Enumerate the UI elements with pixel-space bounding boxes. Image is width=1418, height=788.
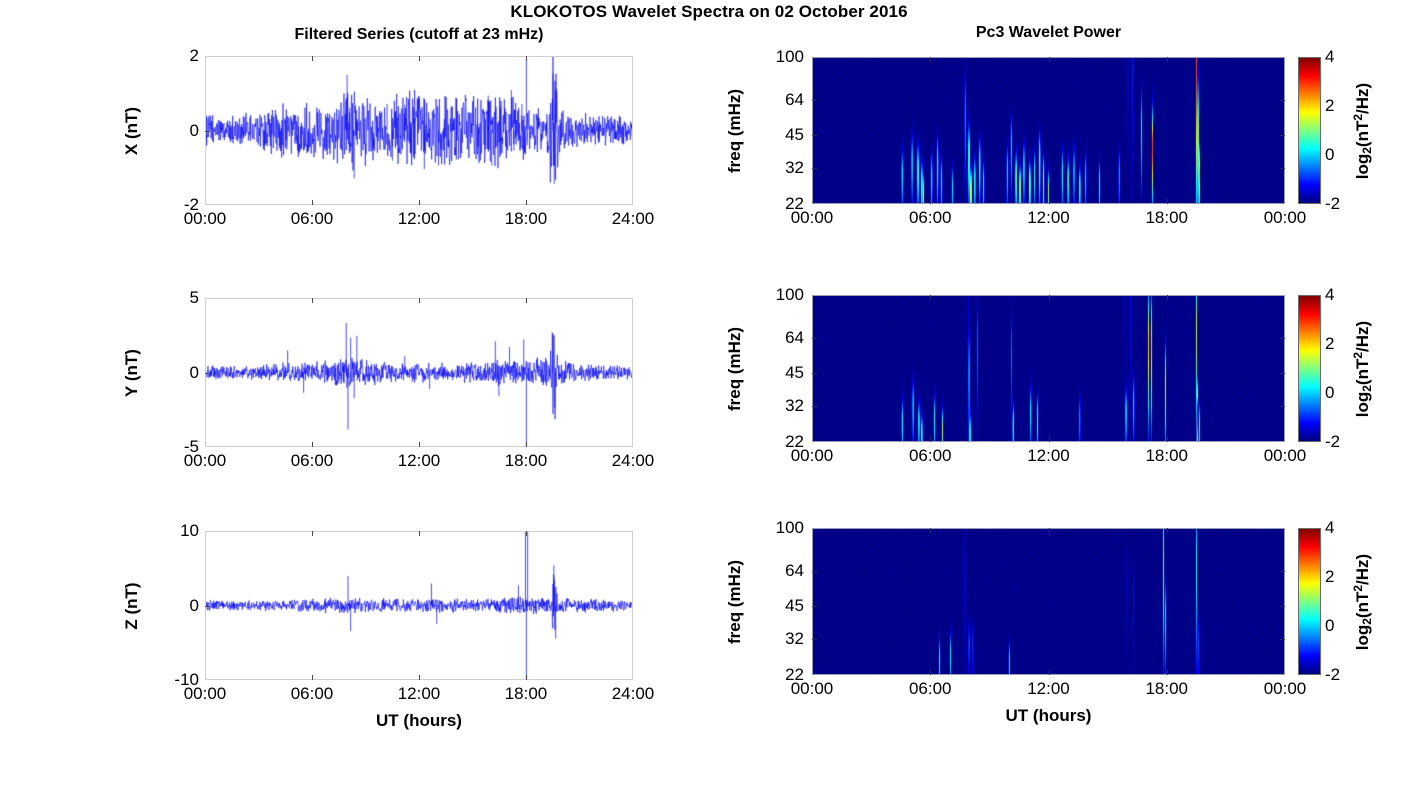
timeseries-trace-y [206, 299, 632, 446]
timeseries-ytick-x-1: 0 [133, 122, 199, 139]
xlabel-right: UT (hours) [812, 706, 1285, 726]
left-column-title: Filtered Series (cutoff at 23 mHz) [205, 26, 633, 44]
timeseries-ytick-z-0: 10 [133, 522, 199, 539]
colorbar-gradient-z [1299, 529, 1320, 674]
colorbar-x [1298, 57, 1321, 204]
colorbar-label-x: log2(nT2/Hz) [1353, 56, 1377, 206]
colorbar-tick-z-2: 0 [1325, 617, 1334, 634]
spectrogram-xtick-z-4: 00:00 [1235, 680, 1335, 697]
xlabel-left: UT (hours) [205, 711, 633, 731]
spectrogram-ftick-x-0: 100 [736, 48, 804, 65]
spectrogram-xtick-z-0: 00:00 [762, 680, 862, 697]
spectrogram-axes-z [812, 528, 1285, 675]
figure-title: KLOKOTOS Wavelet Spectra on 02 October 2… [0, 2, 1418, 22]
spectrogram-xtick-x-4: 00:00 [1235, 209, 1335, 226]
colorbar-tick-x-1: 2 [1325, 97, 1334, 114]
colorbar-tick-y-1: 2 [1325, 335, 1334, 352]
spectrogram-ftick-y-2: 45 [736, 364, 804, 381]
timeseries-axes-y [205, 298, 633, 447]
timeseries-xtick-z-1: 06:00 [262, 685, 362, 702]
timeseries-ytick-y-0: 5 [133, 289, 199, 306]
spectrogram-ftick-x-3: 32 [736, 159, 804, 176]
timeseries-axes-x [205, 56, 633, 205]
timeseries-xtick-z-3: 18:00 [476, 685, 576, 702]
spectrogram-xtick-z-1: 06:00 [880, 680, 980, 697]
timeseries-xtick-z-0: 00:00 [155, 685, 255, 702]
spectrogram-xtick-x-3: 18:00 [1117, 209, 1217, 226]
timeseries-xtick-y-4: 24:00 [583, 452, 683, 469]
colorbar-tick-y-3: -2 [1325, 433, 1340, 450]
colorbar-tick-x-2: 0 [1325, 146, 1334, 163]
spectrogram-axes-y [812, 295, 1285, 442]
colorbar-tick-z-3: -2 [1325, 666, 1340, 683]
spectrogram-ftick-z-0: 100 [736, 519, 804, 536]
spectrogram-xtick-y-2: 12:00 [999, 447, 1099, 464]
spectrogram-ftick-y-3: 32 [736, 397, 804, 414]
spectrogram-ftick-z-1: 64 [736, 562, 804, 579]
spectrogram-xtick-y-4: 00:00 [1235, 447, 1335, 464]
timeseries-xtick-z-4: 24:00 [583, 685, 683, 702]
timeseries-xtick-z-2: 12:00 [369, 685, 469, 702]
timeseries-xtick-x-4: 24:00 [583, 210, 683, 227]
colorbar-z [1298, 528, 1321, 675]
timeseries-xtick-x-2: 12:00 [369, 210, 469, 227]
spectrogram-xtick-y-0: 00:00 [762, 447, 862, 464]
spectrogram-image-z [813, 529, 1284, 674]
right-column-title: Pc3 Wavelet Power [812, 24, 1285, 42]
spectrogram-ftick-y-0: 100 [736, 286, 804, 303]
timeseries-ytick-x-0: 2 [133, 47, 199, 64]
colorbar-tick-y-2: 0 [1325, 384, 1334, 401]
colorbar-gradient-x [1299, 58, 1320, 203]
timeseries-xtick-x-3: 18:00 [476, 210, 576, 227]
spectrogram-xtick-x-1: 06:00 [880, 209, 980, 226]
timeseries-axes-z [205, 531, 633, 680]
spectrogram-ftick-z-2: 45 [736, 597, 804, 614]
spectrogram-image-y [813, 296, 1284, 441]
colorbar-tick-z-1: 2 [1325, 568, 1334, 585]
spectrogram-ftick-y-1: 64 [736, 329, 804, 346]
colorbar-tick-y-0: 4 [1325, 286, 1334, 303]
timeseries-xtick-y-3: 18:00 [476, 452, 576, 469]
timeseries-xtick-x-0: 00:00 [155, 210, 255, 227]
timeseries-xtick-y-2: 12:00 [369, 452, 469, 469]
timeseries-xtick-x-1: 06:00 [262, 210, 362, 227]
colorbar-tick-z-0: 4 [1325, 519, 1334, 536]
spectrogram-ftick-x-1: 64 [736, 91, 804, 108]
figure-canvas: KLOKOTOS Wavelet Spectra on 02 October 2… [0, 0, 1418, 788]
timeseries-ytick-y-1: 0 [133, 364, 199, 381]
timeseries-trace-z [206, 532, 632, 679]
spectrogram-xtick-y-3: 18:00 [1117, 447, 1217, 464]
spectrogram-xtick-y-1: 06:00 [880, 447, 980, 464]
spectrogram-xtick-x-2: 12:00 [999, 209, 1099, 226]
colorbar-tick-x-3: -2 [1325, 195, 1340, 212]
spectrogram-ftick-z-3: 32 [736, 630, 804, 647]
timeseries-xtick-y-0: 00:00 [155, 452, 255, 469]
timeseries-trace-x [206, 57, 632, 204]
spectrogram-ftick-x-2: 45 [736, 126, 804, 143]
spectrogram-xtick-x-0: 00:00 [762, 209, 862, 226]
spectrogram-image-x [813, 58, 1284, 203]
timeseries-xtick-y-1: 06:00 [262, 452, 362, 469]
colorbar-label-z: log2(nT2/Hz) [1353, 527, 1377, 677]
colorbar-gradient-y [1299, 296, 1320, 441]
spectrogram-xtick-z-3: 18:00 [1117, 680, 1217, 697]
spectrogram-axes-x [812, 57, 1285, 204]
colorbar-tick-x-0: 4 [1325, 48, 1334, 65]
colorbar-y [1298, 295, 1321, 442]
colorbar-label-y: log2(nT2/Hz) [1353, 294, 1377, 444]
timeseries-ytick-z-1: 0 [133, 597, 199, 614]
spectrogram-xtick-z-2: 12:00 [999, 680, 1099, 697]
